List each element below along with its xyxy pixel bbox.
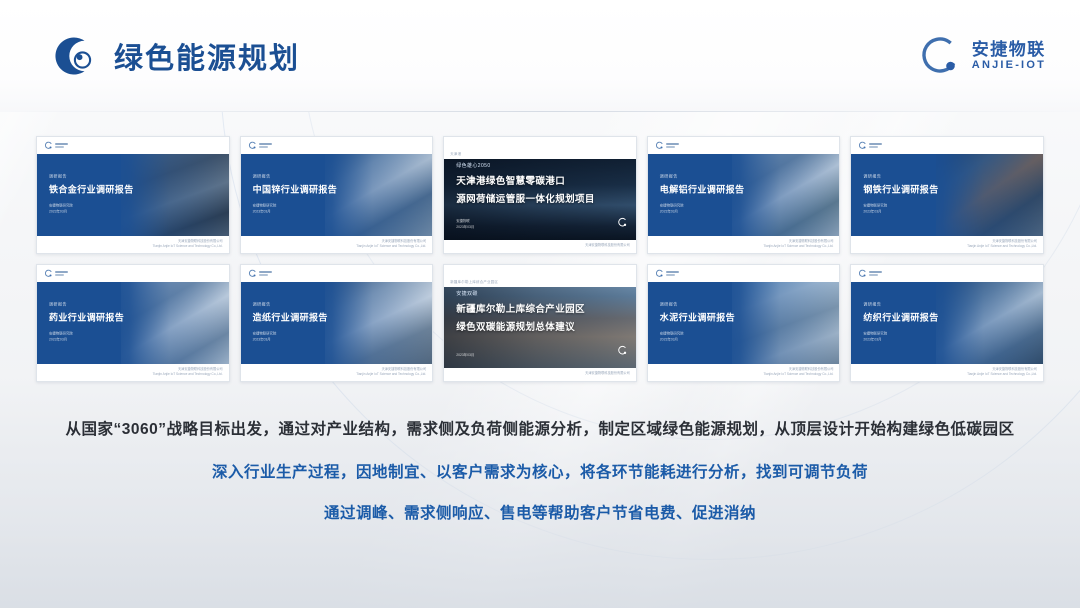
report-card[interactable]: 调研报告水泥行业调研报告安捷物联研究院2023年03月天津安捷物联科技股份有限公… (647, 264, 841, 382)
report-card[interactable]: 天津港绿色雄心2050天津港绿色智慧零碳港口源网荷储运管服一体化规划项目安捷物联… (443, 136, 637, 254)
card-title-line-1: 新疆库尔勒上库综合产业园区 (456, 301, 585, 315)
card-title: 铁合金行业调研报告 (49, 183, 134, 196)
card-header (851, 137, 1043, 154)
card-title: 电解铝行业调研报告 (660, 183, 745, 196)
card-title-block: 绿色雄心2050天津港绿色智慧零碳港口源网荷储运管服一体化规划项目 (456, 162, 595, 205)
card-corp-en: Tianjin Anjie IoT Science and Technology… (356, 372, 426, 377)
card-title: 钢铁行业调研报告 (863, 183, 938, 196)
anjie-mini-logo-icon (44, 269, 68, 278)
anjie-mini-logo-icon (248, 269, 272, 278)
card-footer: 天津安捷物联科技股份有限公司 (444, 368, 636, 381)
card-header-strip-text: 新疆库尔勒上库综合产业园区 (450, 279, 498, 284)
logo-text-cn: 安捷物联 (972, 40, 1046, 59)
card-footer: 天津安捷物联科技股份有限公司 (444, 240, 636, 253)
card-corp-en: Tianjin Anjie IoT Science and Technology… (967, 244, 1037, 249)
page-header: 绿色能源规划 安捷物联 ANJIE-IOT (0, 0, 1080, 112)
card-photo-fade (110, 282, 229, 364)
card-title: 纺织行业调研报告 (863, 311, 938, 324)
anjie-mini-logo-icon (858, 141, 882, 150)
card-cover-band: 调研报告铁合金行业调研报告安捷物联研究院2023年03月 (37, 154, 229, 236)
card-title-block: 安捷双碳新疆库尔勒上库综合产业园区绿色双碳能源规划总体建议 (456, 290, 585, 333)
anjie-ring-dot-icon (617, 215, 628, 233)
copy-line-1: 从国家“3060”战略目标出发，通过对产业结构，需求侧及负荷侧能源分析，制定区域… (0, 418, 1080, 443)
card-kicker: 调研报告 (253, 302, 328, 308)
card-meta-line-1: 2023年03月 (456, 352, 474, 358)
card-cover-band: 天津港绿色雄心2050天津港绿色智慧零碳港口源网荷储运管服一体化规划项目安捷物联… (444, 148, 636, 240)
card-footer: 天津安捷物联科技股份有限公司Tianjin Anjie IoT Science … (241, 236, 433, 253)
anjie-mini-logo-icon (858, 269, 882, 278)
card-header (648, 265, 840, 282)
copy-line-2: 深入行业生产过程，因地制宜、以客户需求为核心，将各环节能耗进行分析，找到可调节负… (0, 461, 1080, 486)
card-footer: 天津安捷物联科技股份有限公司Tianjin Anjie IoT Science … (648, 236, 840, 253)
card-title: 造纸行业调研报告 (253, 311, 328, 324)
summary-copy: 从国家“3060”战略目标出发，通过对产业结构，需求侧及负荷侧能源分析，制定区域… (0, 418, 1080, 526)
card-header-strip: 新疆库尔勒上库综合产业园区 (444, 276, 636, 287)
anjie-mini-logo-icon (248, 141, 272, 150)
card-corp-en: Tianjin Anjie IoT Science and Technology… (763, 372, 833, 377)
card-photo-fade (721, 282, 840, 364)
card-title-block: 调研报告纺织行业调研报告安捷物联研究院2023年03月 (863, 302, 938, 343)
card-corp-en: Tianjin Anjie IoT Science and Technology… (763, 244, 833, 249)
card-footer: 天津安捷物联科技股份有限公司Tianjin Anjie IoT Science … (37, 364, 229, 381)
anjie-mini-logo-icon (655, 141, 679, 150)
copy-line-3: 通过调峰、需求侧响应、售电等帮助客户节省电费、促进消纳 (0, 502, 1080, 527)
company-logo: 安捷物联 ANJIE-IOT (917, 33, 1046, 79)
card-title-block: 调研报告电解铝行业调研报告安捷物联研究院2023年03月 (660, 174, 745, 215)
report-card[interactable]: 调研报告电解铝行业调研报告安捷物联研究院2023年03月天津安捷物联科技股份有限… (647, 136, 841, 254)
card-photo-fade (313, 282, 432, 364)
card-footer: 天津安捷物联科技股份有限公司Tianjin Anjie IoT Science … (851, 236, 1043, 253)
card-footer: 天津安捷物联科技股份有限公司Tianjin Anjie IoT Science … (851, 364, 1043, 381)
card-header (444, 137, 636, 148)
card-header-strip-text: 天津港 (450, 151, 461, 156)
card-meta-line-2: 2023年03月 (253, 209, 338, 215)
report-card[interactable]: 调研报告钢铁行业调研报告安捷物联研究院2023年03月天津安捷物联科技股份有限公… (850, 136, 1044, 254)
anjie-circle-logo-icon (52, 34, 96, 78)
card-corp-en: Tianjin Anjie IoT Science and Technology… (967, 372, 1037, 377)
card-meta-line-2: 2023年03月 (49, 337, 124, 343)
card-meta-block: 安捷物联2023年03月 (456, 218, 474, 230)
card-title-block: 调研报告造纸行业调研报告安捷物联研究院2023年03月 (253, 302, 328, 343)
card-kicker: 绿色雄心2050 (456, 162, 595, 169)
card-header-strip: 天津港 (444, 148, 636, 159)
anjie-mini-logo-icon (655, 269, 679, 278)
card-footer: 天津安捷物联科技股份有限公司Tianjin Anjie IoT Science … (648, 364, 840, 381)
card-header (241, 137, 433, 154)
card-meta-block: 2023年03月 (456, 352, 474, 358)
page-title: 绿色能源规划 (114, 35, 300, 77)
card-meta-line-2: 2023年03月 (660, 209, 745, 215)
card-title-block: 调研报告药业行业调研报告安捷物联研究院2023年03月 (49, 302, 124, 343)
card-header (37, 137, 229, 154)
anjie-ring-dot-icon (917, 33, 963, 79)
card-title: 中国锌行业调研报告 (253, 183, 338, 196)
anjie-mini-logo-icon (44, 141, 68, 150)
card-cover-band: 调研报告造纸行业调研报告安捷物联研究院2023年03月 (241, 282, 433, 364)
card-kicker: 安捷双碳 (456, 290, 585, 297)
card-title-block: 调研报告铁合金行业调研报告安捷物联研究院2023年03月 (49, 174, 134, 215)
card-title: 水泥行业调研报告 (660, 311, 735, 324)
card-meta-line-2: 2023年03月 (863, 337, 938, 343)
card-header (444, 265, 636, 276)
card-cover-band: 调研报告药业行业调研报告安捷物联研究院2023年03月 (37, 282, 229, 364)
card-cover-band: 调研报告电解铝行业调研报告安捷物联研究院2023年03月 (648, 154, 840, 236)
anjie-ring-dot-icon (617, 343, 628, 361)
card-title-line-1: 天津港绿色智慧零碳港口 (456, 173, 595, 187)
report-card[interactable]: 调研报告铁合金行业调研报告安捷物联研究院2023年03月天津安捷物联科技股份有限… (36, 136, 230, 254)
card-header (851, 265, 1043, 282)
card-meta-line-2: 2023年03月 (660, 337, 735, 343)
card-title-line-2: 源网荷储运管服一体化规划项目 (456, 191, 595, 205)
card-corp-cn: 天津安捷物联科技股份有限公司 (585, 243, 630, 248)
card-kicker: 调研报告 (863, 302, 938, 308)
card-corp-en: Tianjin Anjie IoT Science and Technology… (153, 244, 223, 249)
report-card[interactable]: 调研报告药业行业调研报告安捷物联研究院2023年03月天津安捷物联科技股份有限公… (36, 264, 230, 382)
card-header (37, 265, 229, 282)
report-card[interactable]: 调研报告纺织行业调研报告安捷物联研究院2023年03月天津安捷物联科技股份有限公… (850, 264, 1044, 382)
card-title-block: 调研报告水泥行业调研报告安捷物联研究院2023年03月 (660, 302, 735, 343)
card-cover-band: 调研报告钢铁行业调研报告安捷物联研究院2023年03月 (851, 154, 1043, 236)
card-header (241, 265, 433, 282)
card-kicker: 调研报告 (49, 302, 124, 308)
card-corp-en: Tianjin Anjie IoT Science and Technology… (356, 244, 426, 249)
card-meta-line-2: 2023年03月 (456, 224, 474, 230)
report-card[interactable]: 新疆库尔勒上库综合产业园区安捷双碳新疆库尔勒上库综合产业园区绿色双碳能源规划总体… (443, 264, 637, 382)
card-meta-line-2: 2023年03月 (253, 337, 328, 343)
card-title: 药业行业调研报告 (49, 311, 124, 324)
report-card[interactable]: 调研报告造纸行业调研报告安捷物联研究院2023年03月天津安捷物联科技股份有限公… (240, 264, 434, 382)
card-photo-fade (924, 282, 1043, 364)
card-photo-fade (924, 154, 1043, 236)
card-meta-line-2: 2023年03月 (49, 209, 134, 215)
card-kicker: 调研报告 (253, 174, 338, 180)
card-cover-band: 新疆库尔勒上库综合产业园区安捷双碳新疆库尔勒上库综合产业园区绿色双碳能源规划总体… (444, 276, 636, 368)
card-kicker: 调研报告 (660, 174, 745, 180)
card-header (648, 137, 840, 154)
card-corp-cn: 天津安捷物联科技股份有限公司 (585, 371, 630, 376)
card-title-block: 调研报告中国锌行业调研报告安捷物联研究院2023年03月 (253, 174, 338, 215)
card-footer: 天津安捷物联科技股份有限公司Tianjin Anjie IoT Science … (241, 364, 433, 381)
card-cover-band: 调研报告中国锌行业调研报告安捷物联研究院2023年03月 (241, 154, 433, 236)
report-card-grid: 调研报告铁合金行业调研报告安捷物联研究院2023年03月天津安捷物联科技股份有限… (36, 136, 1044, 382)
card-cover-band: 调研报告纺织行业调研报告安捷物联研究院2023年03月 (851, 282, 1043, 364)
card-kicker: 调研报告 (49, 174, 134, 180)
report-card[interactable]: 调研报告中国锌行业调研报告安捷物联研究院2023年03月天津安捷物联科技股份有限… (240, 136, 434, 254)
card-kicker: 调研报告 (863, 174, 938, 180)
card-meta-line-2: 2023年03月 (863, 209, 938, 215)
card-title-block: 调研报告钢铁行业调研报告安捷物联研究院2023年03月 (863, 174, 938, 215)
card-corp-en: Tianjin Anjie IoT Science and Technology… (153, 372, 223, 377)
card-footer: 天津安捷物联科技股份有限公司Tianjin Anjie IoT Science … (37, 236, 229, 253)
card-kicker: 调研报告 (660, 302, 735, 308)
card-cover-band: 调研报告水泥行业调研报告安捷物联研究院2023年03月 (648, 282, 840, 364)
card-title-line-2: 绿色双碳能源规划总体建议 (456, 319, 585, 333)
logo-text-en: ANJIE-IOT (972, 59, 1046, 71)
